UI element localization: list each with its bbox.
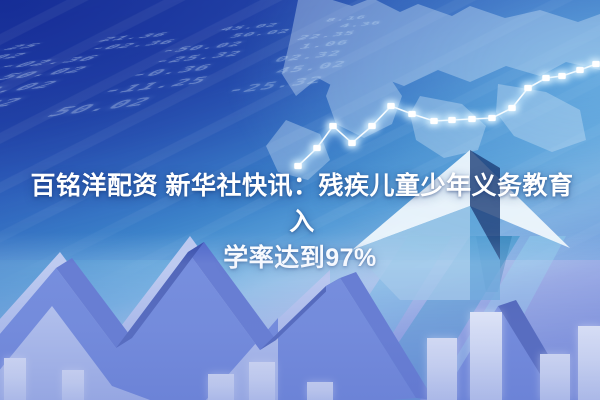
news-banner-image: -0.36-11.2521.3645.028.16-11.25-50.02-02…: [0, 0, 600, 400]
background-bottom-wash: [0, 0, 600, 400]
